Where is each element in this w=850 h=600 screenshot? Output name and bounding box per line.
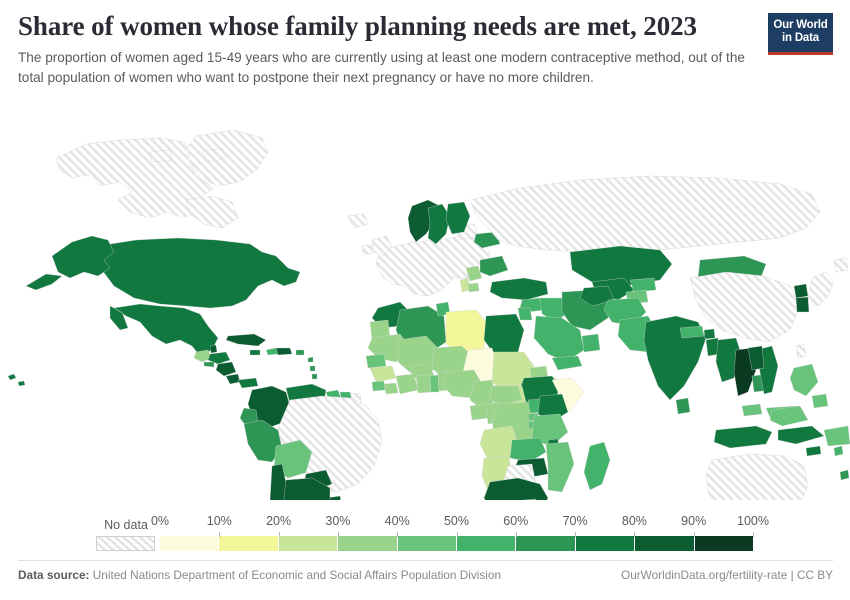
- country-north-korea[interactable]: [794, 284, 808, 298]
- country-liberia[interactable]: [384, 383, 398, 394]
- data-source-text: United Nations Department of Economic an…: [93, 568, 501, 582]
- country-jordan-israel[interactable]: [518, 308, 532, 320]
- country-madagascar[interactable]: [584, 442, 610, 490]
- country-costa-rica[interactable]: [226, 374, 240, 384]
- legend-tick-mark-20: [279, 532, 280, 537]
- page-title: Share of women whose family planning nee…: [18, 10, 832, 42]
- legend-ticks: 0%10%20%30%40%50%60%70%80%90%100%: [0, 536, 850, 551]
- country-senegal[interactable]: [366, 354, 386, 368]
- map-countries-layer: [8, 130, 850, 500]
- logo-line-2: in Data: [782, 32, 819, 45]
- chart-subtitle: The proportion of women aged 15-49 years…: [18, 48, 758, 87]
- legend-tick-label-30: 30%: [325, 514, 350, 528]
- country-papua-new-guinea[interactable]: [824, 426, 850, 446]
- country-iceland[interactable]: [348, 214, 368, 228]
- country-oman[interactable]: [582, 334, 600, 352]
- country-bhutan[interactable]: [704, 329, 715, 339]
- country-usa-hawaii[interactable]: [8, 374, 25, 386]
- chart-footer: Data source: United Nations Department o…: [18, 560, 833, 598]
- legend-tick-mark-90: [694, 532, 695, 537]
- country-dominican-republic[interactable]: [276, 348, 292, 355]
- country-north-macedonia[interactable]: [468, 283, 479, 292]
- country-puerto-rico[interactable]: [296, 350, 304, 355]
- legend-tick-mark-60: [516, 532, 517, 537]
- country-nicaragua[interactable]: [216, 362, 236, 376]
- country-fiji[interactable]: [840, 470, 849, 480]
- chart-header: Share of women whose family planning nee…: [18, 10, 832, 87]
- country-mozambique[interactable]: [546, 442, 574, 492]
- country-russia[interactable]: [470, 176, 820, 254]
- country-canada-east[interactable]: [186, 196, 238, 228]
- country-cuba[interactable]: [226, 334, 266, 346]
- data-source-label: Data source:: [18, 568, 89, 582]
- country-philippines[interactable]: [790, 364, 828, 408]
- country-kyrgyzstan[interactable]: [630, 278, 656, 292]
- data-source: Data source: United Nations Department o…: [18, 568, 501, 582]
- legend-no-data-label: No data: [96, 518, 156, 532]
- country-nepal[interactable]: [680, 326, 704, 338]
- world-map[interactable]: [0, 100, 850, 500]
- country-turkey[interactable]: [490, 278, 548, 300]
- country-sierra-leone[interactable]: [372, 381, 385, 391]
- legend-tick-label-80: 80%: [622, 514, 647, 528]
- logo-line-1: Our World: [773, 19, 827, 32]
- country-sri-lanka[interactable]: [676, 398, 690, 414]
- map-legend: No data 0%10%20%30%40%50%60%70%80%90%100…: [0, 506, 850, 554]
- legend-tick-label-50: 50%: [444, 514, 469, 528]
- country-jamaica[interactable]: [250, 350, 260, 355]
- country-gabon[interactable]: [470, 404, 488, 420]
- country-united-states[interactable]: [98, 238, 300, 308]
- country-australia[interactable]: [706, 454, 808, 500]
- legend-tick-mark-70: [575, 532, 576, 537]
- legend-tick-label-60: 60%: [503, 514, 528, 528]
- country-south-korea[interactable]: [796, 297, 809, 312]
- attribution-link[interactable]: OurWorldinData.org/fertility-rate | CC B…: [621, 568, 833, 582]
- legend-tick-mark-40: [397, 532, 398, 537]
- country-solomon-islands[interactable]: [834, 446, 843, 456]
- country-yemen[interactable]: [552, 356, 582, 370]
- legend-tick-label-70: 70%: [563, 514, 588, 528]
- legend-tick-label-90: 90%: [681, 514, 706, 528]
- country-guinea[interactable]: [370, 366, 396, 382]
- legend-tick-mark-30: [338, 532, 339, 537]
- country-greenland[interactable]: [188, 130, 268, 186]
- country-usa-alaska[interactable]: [26, 236, 114, 290]
- legend-tick-label-0: 0%: [151, 514, 169, 528]
- country-mexico[interactable]: [110, 304, 218, 356]
- owid-map-chart: Share of women whose family planning nee…: [0, 0, 850, 600]
- our-world-in-data-logo[interactable]: Our World in Data: [768, 13, 833, 55]
- legend-tick-mark-100: [753, 532, 754, 537]
- country-sweden[interactable]: [428, 204, 450, 244]
- country-timor-leste[interactable]: [806, 446, 821, 456]
- legend-tick-mark-50: [457, 532, 458, 537]
- legend-tick-mark-80: [634, 532, 635, 537]
- legend-tick-label-20: 20%: [266, 514, 291, 528]
- legend-tick-mark-10: [219, 532, 220, 537]
- legend-tick-label-100: 100%: [737, 514, 769, 528]
- country-panama[interactable]: [238, 378, 258, 388]
- country-togo[interactable]: [430, 375, 439, 392]
- country-lesser-antilles[interactable]: [308, 357, 317, 379]
- country-taiwan[interactable]: [796, 344, 806, 358]
- country-japan[interactable]: [808, 258, 848, 306]
- country-el-salvador[interactable]: [204, 362, 214, 367]
- legend-tick-label-40: 40%: [385, 514, 410, 528]
- country-ghana[interactable]: [416, 374, 432, 393]
- world-map-svg[interactable]: [0, 100, 850, 500]
- legend-tick-label-10: 10%: [207, 514, 232, 528]
- country-belize[interactable]: [210, 345, 217, 353]
